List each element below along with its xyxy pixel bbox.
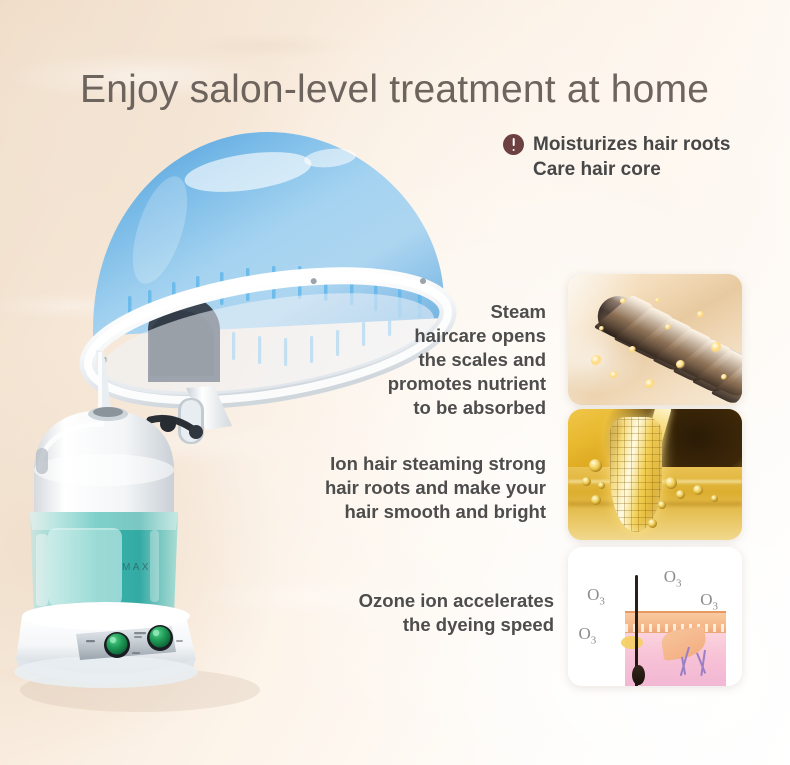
feature-text-ozone: Ozone ion accelerates the dyeing speed (359, 589, 554, 637)
sparkle (591, 355, 602, 366)
sparkle (610, 371, 618, 379)
ozone-molecule-label: O3 (700, 591, 718, 612)
page-title: Enjoy salon-level treatment at home (80, 68, 709, 112)
golden-hair-follicle-photo (568, 409, 742, 540)
nutrient-droplet (589, 459, 602, 472)
feature-text-ion: Ion hair steaming strong hair roots and … (325, 452, 546, 524)
feature-text-steam: Steam haircare opens the scales and prom… (388, 300, 546, 420)
skin-cross-section (625, 611, 726, 686)
sparkle (721, 374, 727, 380)
key-benefit-line-2: Care hair core (533, 157, 773, 182)
key-benefit-line-1: Moisturizes hair roots (533, 132, 730, 157)
sparkle (711, 342, 722, 353)
sparkle (629, 346, 636, 353)
ozone-dyeing-diagram: O3 O3 O3 O3 (568, 547, 742, 686)
sparkle (645, 379, 655, 389)
nutrient-droplet (582, 477, 591, 486)
key-benefit-block: Moisturizes hair roots Care hair core (503, 132, 773, 183)
sparkle (620, 298, 626, 304)
nutrient-droplet (648, 519, 657, 528)
sparkle (697, 311, 704, 318)
key-benefit-row: Moisturizes hair roots (503, 132, 773, 157)
promo-banner: MAX (0, 0, 790, 765)
exclamation-circle-icon (503, 134, 524, 155)
hair-shaft-closeup-photo (568, 274, 742, 405)
ozone-molecule-label: O3 (587, 586, 605, 607)
sparkle (655, 298, 660, 303)
nutrient-droplet (598, 482, 605, 489)
ozone-molecule-label: O3 (664, 568, 682, 589)
follicle-bulb (632, 665, 645, 685)
ozone-molecule-label: O3 (578, 625, 596, 646)
follicle-root-bulb (610, 417, 662, 532)
